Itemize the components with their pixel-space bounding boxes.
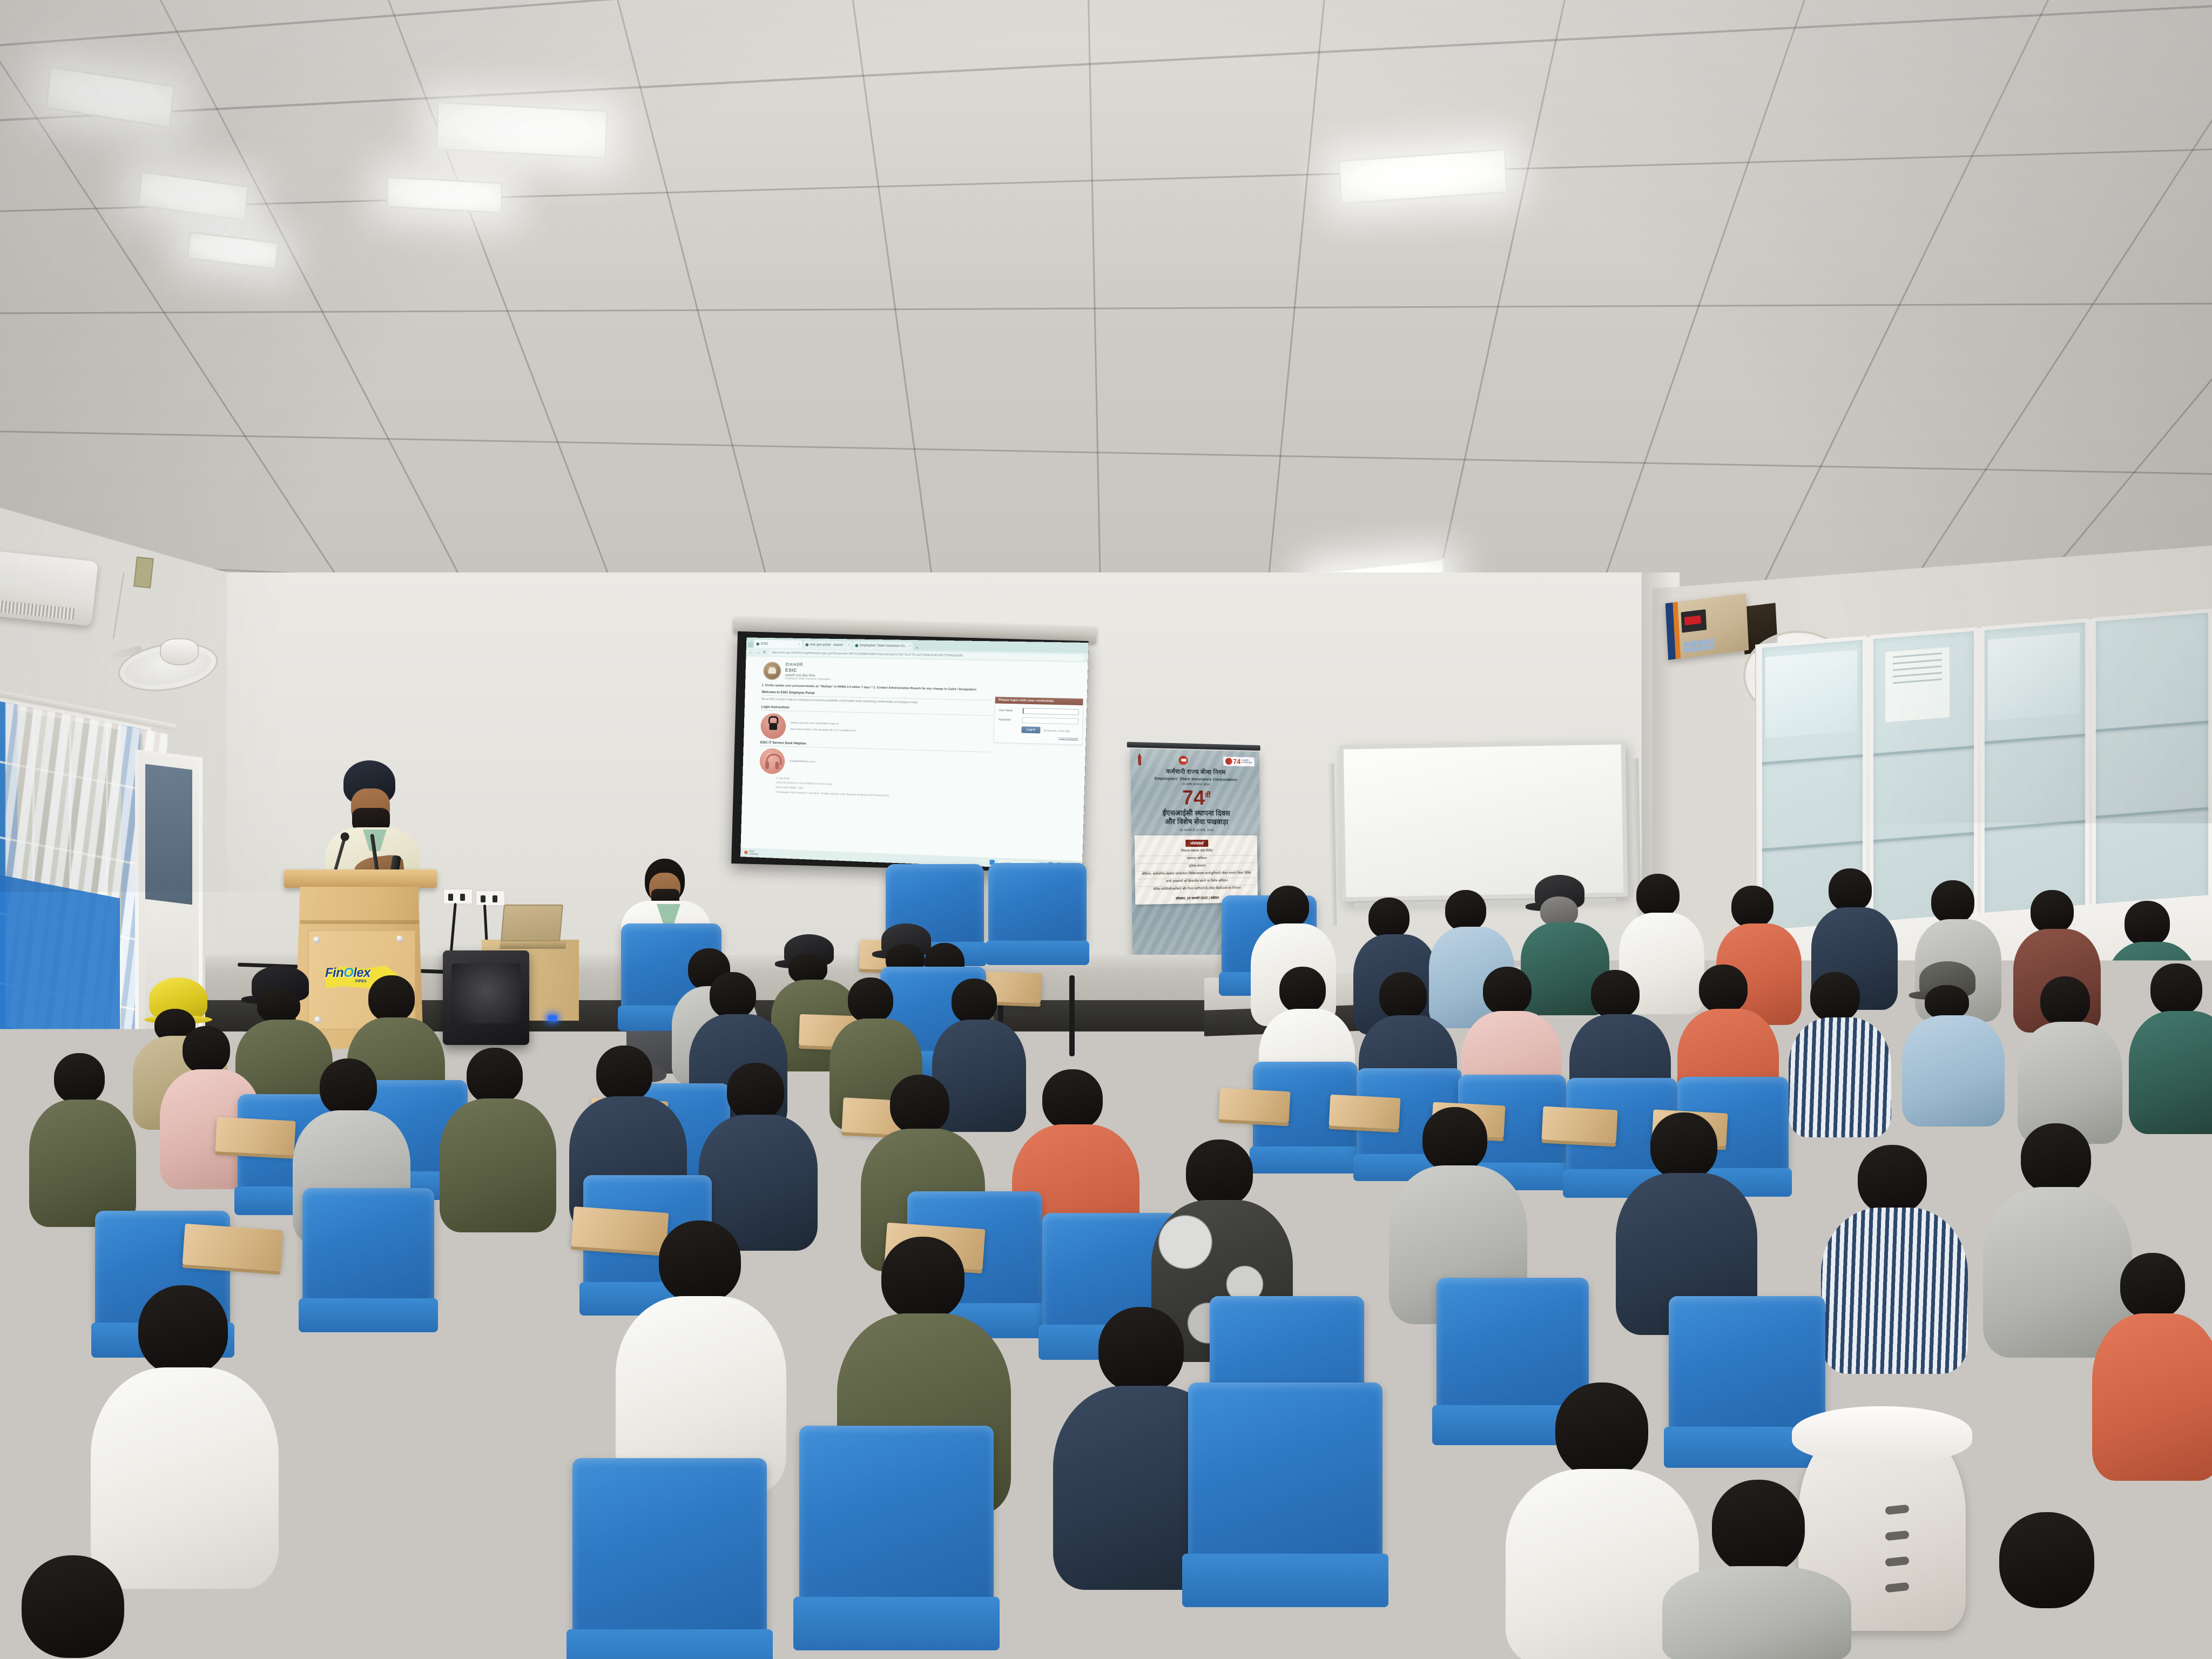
screen-reflection xyxy=(1765,650,1857,738)
tab-label: ESIC xyxy=(761,642,768,645)
badge-number: 74 xyxy=(1233,758,1240,765)
lock-icon xyxy=(760,713,786,739)
login-panel[interactable]: Please login with your credentials User … xyxy=(994,696,1084,745)
tab-label: Employees' State Insurance Co... xyxy=(860,644,907,648)
anniversary-badge: 74 ट्रांसफॉर्मिंग सामाजिक सुरक्षा xyxy=(1223,757,1255,766)
password-input[interactable] xyxy=(1022,717,1078,725)
india-emblem-icon xyxy=(1136,753,1143,765)
chair-writing-tablet xyxy=(183,1224,284,1272)
helpdesk-email[interactable]: it-helpdesk@esic.nic.in xyxy=(790,760,815,763)
suspended-ceiling xyxy=(0,0,2212,637)
audience-member xyxy=(1825,1145,1966,1372)
tab-list-chevron-icon[interactable] xyxy=(748,642,753,648)
esic-portal-page: ईएसआईसी ESIC कर्मचारी राज्य बीमा निगम Em… xyxy=(740,657,1088,871)
audience-chair[interactable] xyxy=(1188,1382,1382,1561)
activity-item: निवारक स्वास्थ्य जांच शिविर xyxy=(1137,848,1255,856)
pa-speaker xyxy=(443,950,529,1045)
podium-top xyxy=(284,869,437,888)
close-icon[interactable]: × xyxy=(909,644,911,648)
chair-writing-tablet xyxy=(1219,1088,1291,1123)
browser-tab-search[interactable]: esic gov portal - search × xyxy=(803,640,852,649)
laptop-keyboard[interactable] xyxy=(500,940,566,949)
login-instruction-2: Best view at 1024 x 768 resolution (IE 7… xyxy=(790,726,856,734)
tab-label: esic gov portal - search xyxy=(810,643,843,647)
audience-member xyxy=(2095,1253,2212,1480)
standee-title-line2: और विशेष सेवा पखवाड़ा xyxy=(1137,817,1255,826)
projection-screen: ESIC × esic gov portal - search × Employ… xyxy=(731,631,1089,873)
chair-writing-tablet xyxy=(1541,1106,1617,1143)
globe-icon xyxy=(855,644,858,647)
wall-power-socket[interactable] xyxy=(475,890,505,906)
audience-member xyxy=(1955,1512,2139,1659)
audience-member xyxy=(335,1523,529,1659)
standee-anniversary-number: 74वीं xyxy=(1136,788,1255,808)
new-tab-button[interactable]: + xyxy=(914,645,920,650)
ceiling-light-panel xyxy=(435,102,608,159)
esic-logo-icon xyxy=(1225,758,1232,765)
password-label: Password xyxy=(999,718,1020,721)
address-bar-value: https://esic.gov.in/ESICInsight/Home/Log… xyxy=(771,651,963,657)
activity-item: बीमित व्यक्तियों/आश्रितों और पैनल भागीदा… xyxy=(1138,885,1255,894)
taskbar-app-esic[interactable]: ESIC Gateway xyxy=(744,850,758,855)
ceiling-light-panel xyxy=(387,176,502,213)
forward-icon[interactable]: → xyxy=(756,650,760,655)
audience-member xyxy=(0,1555,173,1659)
audience-member xyxy=(97,1285,275,1588)
username-label: User Name xyxy=(999,709,1020,712)
seminar-hall-photo: ESIC × esic gov portal - search × Employ… xyxy=(0,0,2212,1659)
audience-member xyxy=(2129,963,2212,1134)
globe-icon xyxy=(756,642,759,645)
laptop-screen xyxy=(501,905,563,941)
esic-logo-icon xyxy=(1179,756,1188,765)
reload-icon[interactable]: ↻ xyxy=(763,650,766,655)
headset-icon xyxy=(759,748,785,774)
audience-member xyxy=(443,1048,555,1231)
close-icon[interactable]: × xyxy=(848,644,850,647)
audience-member xyxy=(1791,972,1890,1136)
badge-text-2: सामाजिक सुरक्षा xyxy=(1242,761,1252,764)
audience-chair[interactable] xyxy=(988,863,1087,944)
activities-heading: गतिविधियाँ xyxy=(1185,840,1208,847)
audience-member xyxy=(32,1053,134,1226)
printer-carton-box xyxy=(1665,594,1749,660)
anniversary-number: 74 xyxy=(1182,787,1205,810)
panel-screw xyxy=(396,935,403,942)
wall-name-plate xyxy=(133,556,154,588)
standee-date-range: 24 फरवरी से 10 मार्च, 2025 xyxy=(1137,828,1255,832)
window-blue-panel xyxy=(0,873,120,1055)
national-emblem-icon xyxy=(763,662,781,680)
cabinet-door[interactable] xyxy=(2092,609,2212,920)
standee-activities-card: गतिविधियाँ निवारक स्वास्थ्य जांच शिविर स… xyxy=(1135,835,1258,905)
split-ac-indoor-unit xyxy=(0,551,98,626)
audience-chair[interactable] xyxy=(799,1426,994,1604)
speaker-status-led xyxy=(548,1015,557,1021)
wall-mounted-fan xyxy=(96,636,220,696)
audience-member xyxy=(2031,1069,2139,1253)
standee-title-line1: ईएसआईसी स्थापना दिवस xyxy=(1136,808,1255,818)
close-icon[interactable]: × xyxy=(798,643,800,646)
audience-chair[interactable] xyxy=(572,1458,767,1636)
forgot-password-link[interactable]: Forgot Password xyxy=(998,735,1078,740)
chair-writing-tablet xyxy=(1329,1095,1401,1130)
username-input[interactable] xyxy=(1022,708,1078,716)
browser-tab-esic[interactable]: ESIC × xyxy=(754,640,802,649)
activities-list: निवारक स्वास्थ्य जांच शिविर स्वच्णता अभि… xyxy=(1137,848,1255,894)
search-icon xyxy=(805,643,808,646)
screen-reflection xyxy=(1988,632,2080,720)
login-button[interactable]: Log In xyxy=(1021,726,1040,733)
browser-window[interactable]: ESIC × esic gov portal - search × Employ… xyxy=(740,637,1089,871)
login-hint: for first time, 2*Two digit xyxy=(1044,729,1070,732)
anniversary-ordinal: वीं xyxy=(1205,791,1211,799)
screen-reflection xyxy=(1885,647,1950,722)
taskbar-app-line2: Gateway xyxy=(750,853,758,855)
audience-member xyxy=(1669,1480,1847,1659)
 xyxy=(621,1220,783,1491)
audience-member-with-cap xyxy=(1904,961,2004,1127)
audience-chair[interactable] xyxy=(302,1188,434,1303)
chair-writing-tablet xyxy=(215,1117,295,1156)
back-icon[interactable]: ← xyxy=(749,650,753,655)
panel-screw xyxy=(313,936,320,943)
esic-app-icon xyxy=(744,851,748,854)
org-english: Employees' State Insurance Corporation xyxy=(785,677,831,681)
